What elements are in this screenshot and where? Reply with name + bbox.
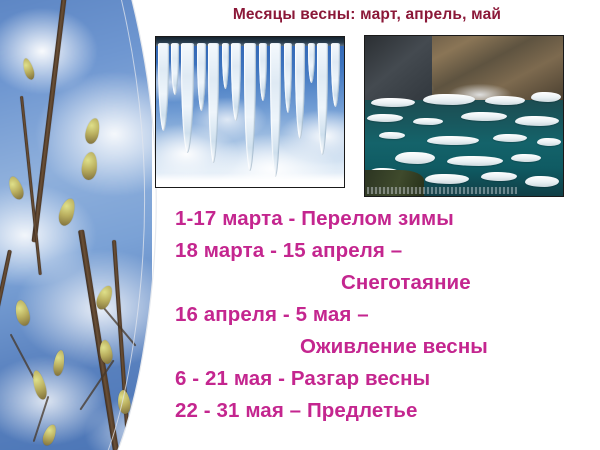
period-line-7: 22 - 31 мая – Предлетье xyxy=(0,395,600,427)
ice-floe-1 xyxy=(371,98,415,107)
ice-floe-13 xyxy=(395,152,435,164)
ice-drift-photo xyxy=(364,35,564,197)
ice-floe-18 xyxy=(481,172,517,181)
watermark-text xyxy=(367,187,517,194)
ice-floe-3 xyxy=(485,96,525,105)
period-line-3: Снеготаяние xyxy=(0,267,600,299)
ice-floe-12 xyxy=(537,138,561,146)
icicles-photo xyxy=(155,36,345,188)
ice-floe-4 xyxy=(531,92,561,102)
ice-floe-19 xyxy=(525,176,559,187)
page-title: Месяцы весны: март, апрель, май xyxy=(152,6,582,24)
period-line-5: Оживление весны xyxy=(0,331,600,363)
ice-floe-2 xyxy=(423,94,475,105)
ice-floe-14 xyxy=(447,156,503,166)
ice-floe-10 xyxy=(427,136,479,145)
ice-floe-9 xyxy=(379,132,405,139)
period-line-2: 18 марта - 15 апреля – xyxy=(0,235,600,267)
ice-floe-6 xyxy=(413,118,443,125)
ice-floe-15 xyxy=(511,154,541,162)
ice-floe-8 xyxy=(515,116,559,126)
icicles-cloud-base xyxy=(156,173,344,187)
period-line-1: 1-17 марта - Перелом зимы xyxy=(0,203,600,235)
spring-periods-list: 1-17 марта - Перелом зимы 18 марта - 15 … xyxy=(0,203,600,427)
ice-floe-7 xyxy=(461,112,507,121)
spring-months-slide: Месяцы весны: март, апрель, май xyxy=(0,0,600,450)
period-line-4: 16 апреля - 5 мая – xyxy=(0,299,600,331)
period-line-6: 6 - 21 мая - Разгар весны xyxy=(0,363,600,395)
ice-floe-11 xyxy=(493,134,527,142)
ice-floe-17 xyxy=(425,174,469,184)
ice-floe-5 xyxy=(367,114,403,122)
